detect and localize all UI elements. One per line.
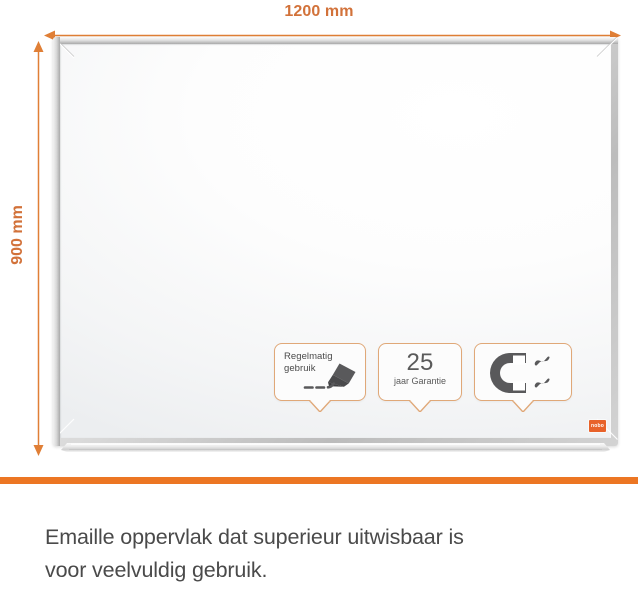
badge-warranty-tail: [409, 399, 431, 411]
pen-tray: [61, 441, 610, 452]
badge-warranty-years: 25: [385, 349, 455, 376]
nobo-logo-text: nobo: [591, 423, 604, 429]
width-dimension-label: 1200 mm: [0, 2, 638, 22]
product-caption: Emaille oppervlak dat superieur uitwisba…: [45, 521, 605, 587]
magnet-icon: [486, 351, 562, 395]
height-dimension-label: 900 mm: [8, 175, 28, 295]
product-image-stage: 1200 mm 900 mm: [0, 0, 638, 592]
height-dimension-arrow: [33, 41, 44, 456]
feature-badges: Regelmatig gebruik: [274, 343, 572, 401]
orange-divider: [0, 477, 638, 484]
caption-line-1: Emaille oppervlak dat superieur uitwisba…: [45, 521, 605, 554]
badge-regular-use-tail: [309, 399, 331, 411]
marker-pen-icon: [303, 360, 361, 396]
badge-regular-use[interactable]: Regelmatig gebruik: [274, 343, 366, 401]
badge-warranty-label: jaar Garantie: [385, 375, 455, 387]
nobo-brand-logo: nobo: [589, 420, 606, 432]
badge-magnetic-tail: [512, 399, 534, 411]
badge-magnetic[interactable]: [474, 343, 572, 401]
badge-warranty[interactable]: 25 jaar Garantie: [378, 343, 462, 401]
caption-line-2: voor veelvuldig gebruik.: [45, 554, 605, 587]
